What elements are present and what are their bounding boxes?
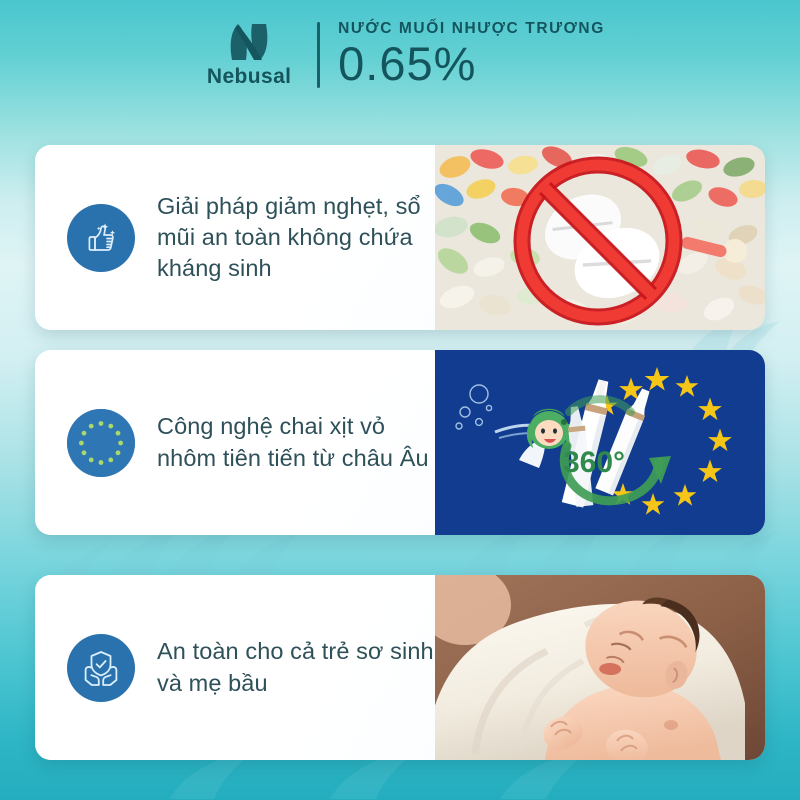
card-text: An toàn cho cả trẻ sơ sinh và mẹ bầu [157,636,435,699]
card-text: Giải pháp giảm nghẹt, sổ mũi an toàn khô… [157,191,435,285]
hands-shield-check-icon [67,634,135,702]
brand-lockup: Nebusal [195,22,303,89]
feature-card-no-antibiotics[interactable]: Giải pháp giảm nghẹt, sổ mũi an toàn khô… [35,145,765,330]
eu-flag-circle-icon [67,409,135,477]
nebusal-leaf-n-logo-icon [226,22,272,62]
sleeping-newborn-photo [435,575,765,760]
page-header: Nebusal NƯỚC MUỐI NHƯỢC TRƯƠNG 0.65% [0,0,800,110]
card-content: An toàn cho cả trẻ sơ sinh và mẹ bầu [35,575,435,760]
promo-page: Nebusal NƯỚC MUỐI NHƯỢC TRƯƠNG 0.65% Giả… [0,0,800,800]
brand-name: Nebusal [207,65,292,89]
badge-360-label: 360° [563,446,625,479]
pills-prohibited-photo [435,145,765,330]
feature-card-safe-for-babies[interactable]: An toàn cho cả trẻ sơ sinh và mẹ bầu [35,575,765,760]
feature-card-european-technology[interactable]: Công nghệ chai xịt vỏ nhôm tiên tiến từ … [35,350,765,535]
headline-block: NƯỚC MUỐI NHƯỢC TRƯƠNG 0.65% [338,20,605,90]
card-content: Giải pháp giảm nghẹt, sổ mũi an toàn khô… [35,145,435,330]
card-text: Công nghệ chai xịt vỏ nhôm tiên tiến từ … [157,411,435,474]
card-content: Công nghệ chai xịt vỏ nhôm tiên tiến từ … [35,350,435,535]
eu-spray-bottles-360-graphic: 360° [435,350,765,535]
product-tagline: NƯỚC MUỐI NHƯỢC TRƯƠNG [338,20,605,37]
thumbs-up-sparkle-icon [67,204,135,272]
header-divider [317,22,320,88]
concentration-value: 0.65% [338,39,605,90]
